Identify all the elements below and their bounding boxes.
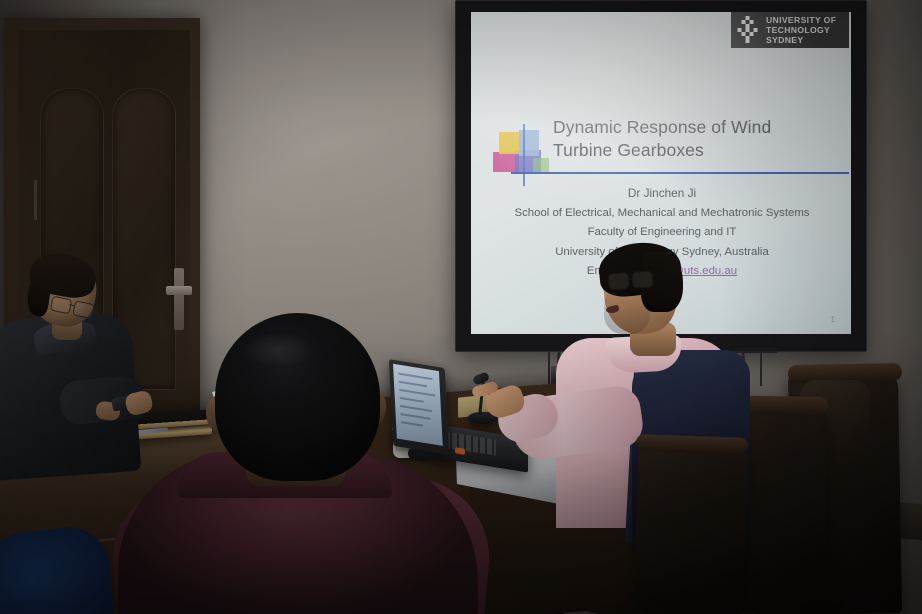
slide-page-number: 1 — [831, 315, 835, 324]
photo-scene: UNIVERSITY OF TECHNOLOGY SYDNEY Dynamic … — [0, 0, 922, 614]
deco-square-pink — [493, 152, 519, 172]
deco-vertical-line — [523, 124, 525, 186]
chair-center-right[interactable] — [633, 438, 749, 614]
slide-title: Dynamic Response of Wind Turbine Gearbox… — [553, 116, 835, 162]
deco-square-purple — [515, 150, 541, 174]
uts-logo-text: UNIVERSITY OF TECHNOLOGY SYDNEY — [766, 15, 849, 45]
slide-divider-rule — [511, 172, 849, 174]
slide-affiliation-1: School of Electrical, Mechanical and Mec… — [481, 204, 843, 224]
laptop-screen — [393, 364, 443, 446]
door-handle[interactable] — [166, 286, 192, 295]
deco-square-lightblue — [519, 130, 539, 156]
uts-logo-line1: UNIVERSITY OF — [766, 15, 849, 25]
door-lock-plate — [174, 268, 184, 330]
door-hinge — [34, 180, 37, 220]
laptop-lid[interactable] — [389, 359, 449, 455]
foreground-person-hair-sheen — [238, 330, 328, 376]
slide-decoration-squares — [493, 128, 551, 184]
presenter-glasses-icon — [608, 270, 653, 288]
uts-logo: UNIVERSITY OF TECHNOLOGY SYDNEY — [731, 12, 849, 48]
uts-logo-line2: TECHNOLOGY SYDNEY — [766, 25, 849, 45]
uts-crest-icon — [734, 15, 761, 45]
slide-presenter-name: Dr Jinchen Ji — [481, 184, 843, 204]
slide-affiliation-2: Faculty of Engineering and IT — [481, 223, 843, 243]
right-cable-secondary — [760, 352, 762, 386]
deco-square-green — [533, 158, 549, 174]
deco-square-yellow — [499, 132, 523, 154]
